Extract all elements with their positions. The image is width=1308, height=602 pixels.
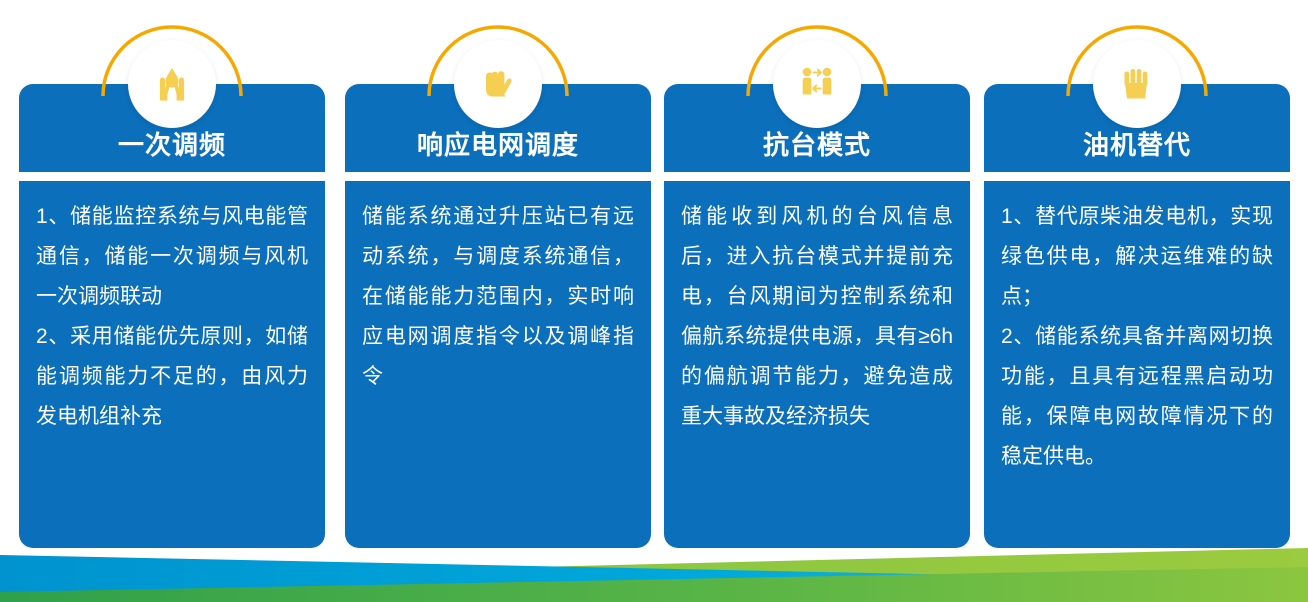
feature-card-typhoon-resistance-mode[interactable]: 抗台模式 储能收到风机的台风信息后，进入抗台模式并提前充电，台风期间为控制系统和… <box>664 84 970 548</box>
icon-badge <box>454 40 542 128</box>
card-title: 油机替代 <box>984 130 1290 160</box>
feature-card-diesel-generator-replacement[interactable]: 油机替代 1、替代原柴油发电机，实现绿色供电，解决运维难的缺点； 2、储能系统具… <box>984 84 1290 548</box>
feature-card-primary-frequency-regulation[interactable]: 一次调频 1、储能监控系统与风电能管通信，储能一次调频与风机一次调频联动 2、采… <box>19 84 325 548</box>
card-divider <box>345 172 651 181</box>
card-title: 响应电网调度 <box>345 130 651 160</box>
card-title: 一次调频 <box>19 130 325 160</box>
card-title: 抗台模式 <box>664 130 970 160</box>
icon-badge <box>1093 40 1181 128</box>
icon-badge <box>128 40 216 128</box>
hands-holding-droplet-icon <box>149 61 195 107</box>
feature-cards-row: 一次调频 1、储能监控系统与风电能管通信，储能一次调频与风机一次调频联动 2、采… <box>0 0 1308 560</box>
open-palm-icon <box>1116 62 1158 106</box>
card-body-text: 1、储能监控系统与风电能管通信，储能一次调频与风机一次调频联动 2、采用储能优先… <box>19 181 325 548</box>
card-divider <box>984 172 1290 181</box>
card-body-text: 1、替代原柴油发电机，实现绿色供电，解决运维难的缺点； 2、储能系统具备并离网切… <box>984 181 1290 548</box>
card-body-text: 储能系统通过升压站已有远动系统，与调度系统通信，在储能能力范围内，实时响应电网调… <box>345 181 651 548</box>
two-people-exchange-icon <box>794 61 840 107</box>
icon-badge <box>773 40 861 128</box>
slide-canvas: 一次调频 1、储能监控系统与风电能管通信，储能一次调频与风机一次调频联动 2、采… <box>0 0 1308 602</box>
card-body-text: 储能收到风机的台风信息后，进入抗台模式并提前充电，台风期间为控制系统和偏航系统提… <box>664 181 970 548</box>
card-divider <box>664 172 970 181</box>
feature-card-grid-dispatch-response[interactable]: 响应电网调度 储能系统通过升压站已有远动系统，与调度系统通信，在储能能力范围内，… <box>345 84 651 548</box>
card-divider <box>19 172 325 181</box>
bottom-wave-decoration <box>0 522 1308 602</box>
glove-icon <box>476 62 520 106</box>
